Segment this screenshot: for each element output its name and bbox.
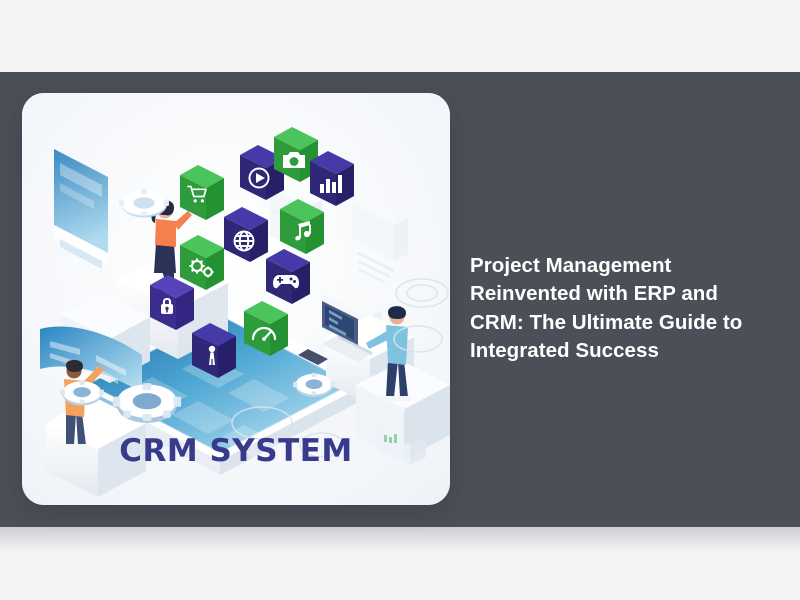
bar-chart-icon <box>310 151 354 206</box>
page-root: CRM SYSTEM Project Management Reinvented… <box>0 0 800 600</box>
hero-band-shadow <box>0 527 800 553</box>
globe-icon <box>224 207 268 262</box>
game-controller-icon <box>266 249 310 304</box>
illustration-card: CRM SYSTEM <box>22 93 450 505</box>
article-headline: Project Management Reinvented with ERP a… <box>470 252 770 366</box>
illustration-canvas: CRM SYSTEM <box>22 93 450 505</box>
left-wall-display <box>54 149 108 269</box>
shopping-cart-icon <box>180 165 224 220</box>
crm-system-caption: CRM SYSTEM <box>22 433 450 469</box>
